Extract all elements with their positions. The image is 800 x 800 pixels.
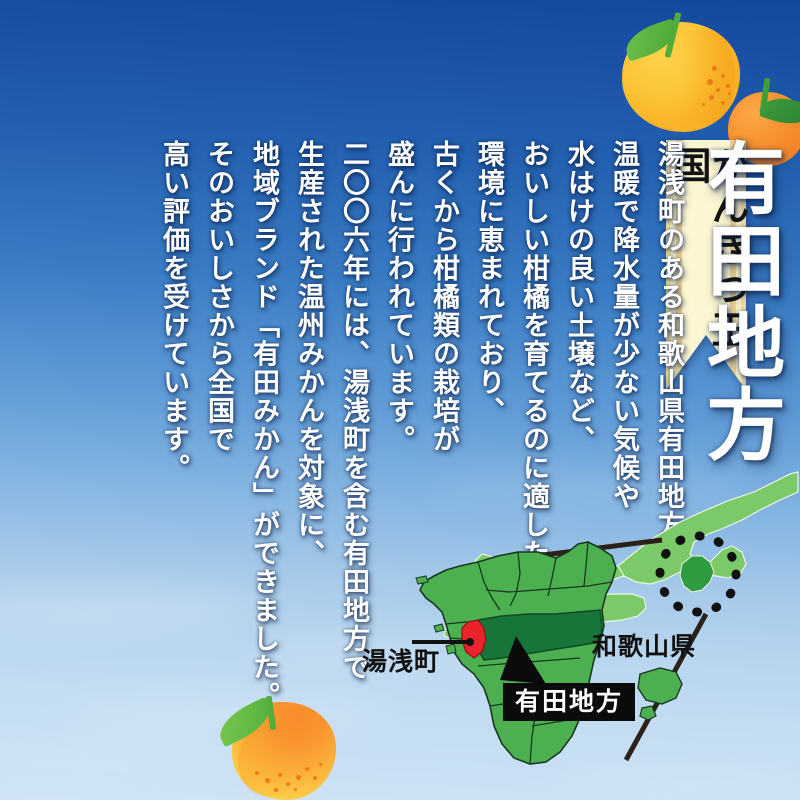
yuasa-town-highlight bbox=[462, 620, 486, 658]
map-label-yuasa-town: 湯浅町 bbox=[362, 642, 440, 678]
body-text-column-2: 温暖で降水量が少ない気候や bbox=[610, 140, 637, 511]
coast-islets bbox=[434, 624, 444, 632]
yuasa-marker-dot bbox=[466, 638, 474, 646]
wakayama-locator-map bbox=[350, 470, 800, 800]
mandarin-orange-icon bbox=[232, 702, 336, 800]
cloud-decoration bbox=[0, 745, 240, 767]
cloud-decoration bbox=[0, 590, 260, 626]
body-text-column-6: 古くから柑橘類の栽培が bbox=[430, 140, 457, 454]
body-text-column-3: 水はけの良い土壌など、 bbox=[565, 140, 592, 454]
coast-islets bbox=[446, 644, 456, 654]
body-text-column-9: 生産された温州みかんを対象に、 bbox=[295, 140, 322, 568]
coast-islets bbox=[416, 576, 428, 584]
mandarin-orange-icon bbox=[622, 22, 740, 132]
map-label-wakayama-prefecture: 和歌山県 bbox=[592, 627, 696, 663]
body-text-column-11: そのおいしさから全国で bbox=[205, 140, 232, 454]
japan-kii-peninsula-highlight bbox=[680, 556, 714, 592]
body-text-column-7: 盛んに行われています。 bbox=[385, 140, 412, 454]
body-text-column-10: 地域ブランド「有田みかん」ができました。 bbox=[250, 140, 277, 710]
awaji-island-shape bbox=[638, 668, 682, 704]
page-title: 有田地方 bbox=[698, 138, 778, 466]
poster-canvas: かんきつ王国 有田地方 湯浅町のある和歌山県有田地方。 温暖で降水量が少ない気候… bbox=[0, 0, 800, 800]
map-label-arida-region: 有田地方 bbox=[503, 683, 635, 721]
orange-shading bbox=[238, 727, 292, 796]
body-text-column-5: 環境に恵まれており、 bbox=[475, 140, 502, 425]
body-text-column-12: 高い評価を受けています。 bbox=[160, 140, 187, 482]
